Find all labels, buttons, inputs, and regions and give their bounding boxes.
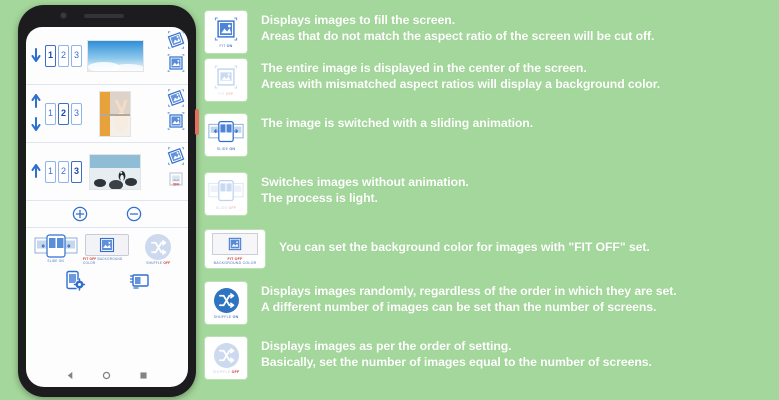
sky-clouds-thumbnail	[88, 41, 144, 72]
legend-line-1: Displays images to fill the screen.	[261, 13, 654, 29]
row-thumbnail[interactable]	[99, 91, 131, 137]
screen-number-3[interactable]: 3	[71, 103, 82, 125]
screen-number-3[interactable]: 3	[71, 161, 82, 183]
shuffle-mode-caption: SHUFFLE OFF	[146, 261, 170, 265]
move-down-icon[interactable]	[31, 117, 41, 133]
move-down-icon[interactable]	[31, 48, 41, 64]
phone-mockup: 1 2 3	[18, 5, 196, 397]
legend-line-2: Areas with mismatched aspect ratios will…	[261, 77, 660, 93]
legend-text: Displays images as per the order of sett…	[261, 337, 652, 370]
penguins-ice-thumbnail	[90, 155, 141, 190]
rotate-image-icon[interactable]	[166, 88, 186, 108]
legend-line-1: Displays images as per the order of sett…	[261, 339, 652, 355]
mode-toolbar: SLIDE ON FIT OFF BACKGROUND COLOR	[26, 228, 188, 265]
home-nav-icon[interactable]	[102, 371, 111, 380]
svg-text:OFF: OFF	[173, 183, 180, 187]
screen-number-selector[interactable]: 1 2 3	[45, 103, 82, 125]
background-color-swatch[interactable]	[85, 234, 129, 256]
shuffle-glyph-icon	[150, 239, 167, 256]
slide-on-icon	[34, 234, 78, 258]
front-camera-icon	[60, 12, 67, 19]
row-thumbnail[interactable]	[89, 154, 141, 190]
fit-on-icon: FIT ON	[205, 11, 247, 53]
fit-off-caption: FIT OFF	[219, 92, 234, 96]
fit-off-image-icon[interactable]: OFF	[166, 169, 186, 189]
background-color-icon: FIT OFF BACKGROUND COLOR	[205, 230, 265, 268]
list-item: SLIDE ON The image is switched with a sl…	[205, 114, 779, 156]
row-icon-column	[166, 88, 186, 131]
power-button[interactable]	[195, 109, 199, 135]
table-row[interactable]: 1 2 3	[26, 143, 188, 201]
row-arrow-column	[28, 48, 44, 64]
slide-off-glyph-icon	[208, 178, 244, 204]
background-color-caption: FIT OFF BACKGROUND COLOR	[83, 257, 131, 265]
legend-line-2: A different number of images can be set …	[261, 300, 677, 316]
list-item: SLIDE OFF Switches images without animat…	[205, 173, 779, 215]
remove-screen-button[interactable]	[126, 206, 142, 222]
recents-nav-icon[interactable]	[139, 371, 148, 380]
rotate-image-icon[interactable]	[166, 146, 186, 166]
phone-screen: 1 2 3	[26, 27, 188, 387]
fit-on-glyph-icon	[213, 16, 239, 42]
slide-mode-button[interactable]: SLIDE ON	[32, 234, 80, 263]
screen-settings-button[interactable]	[64, 270, 86, 292]
legend-line-1: The image is switched with a sliding ani…	[261, 116, 533, 132]
move-up-icon[interactable]	[31, 164, 41, 180]
screen-count-stepper[interactable]	[26, 201, 188, 228]
shuffle-glyph-icon	[218, 347, 235, 364]
slide-on-caption: SLIDE ON	[217, 147, 235, 151]
tool-toolbar	[26, 265, 188, 292]
background-color-icon	[99, 237, 115, 253]
legend-line-2: Areas that do not match the aspect ratio…	[261, 29, 654, 45]
legend-text: Switches images without animation. The p…	[261, 173, 469, 206]
legend-line-1: Displays images randomly, regardless of …	[261, 284, 677, 300]
row-icon-column: OFF	[166, 146, 186, 189]
slide-mode-caption: SLIDE ON	[47, 259, 64, 263]
move-up-icon[interactable]	[31, 94, 41, 110]
list-item: FIT ON Displays images to fill the scree…	[205, 11, 779, 53]
legend-line-2: The process is light.	[261, 191, 469, 207]
shuffle-on-caption: SHUFFLE ON	[214, 315, 239, 319]
background-color-swatch	[212, 233, 258, 255]
screen-number-selector[interactable]: 1 2 3	[45, 161, 82, 183]
slide-on-icon: SLIDE ON	[205, 114, 247, 156]
row-icon-column	[166, 30, 186, 73]
shuffle-glyph-icon	[218, 292, 235, 309]
widget-settings-button[interactable]	[128, 270, 150, 292]
legend-panel: FIT ON Displays images to fill the scree…	[205, 0, 779, 400]
screen-number-1[interactable]: 1	[45, 161, 56, 183]
row-arrow-column	[28, 164, 44, 180]
shuffle-on-icon: SHUFFLE ON	[205, 282, 247, 324]
shuffle-off-icon[interactable]	[145, 234, 171, 260]
screen-number-3[interactable]: 3	[71, 45, 82, 67]
background-color-caption: FIT OFF BACKGROUND COLOR	[214, 257, 257, 266]
list-item: SHUFFLE OFF Displays images as per the o…	[205, 337, 779, 379]
fit-image-icon[interactable]	[166, 111, 186, 131]
rotate-image-icon[interactable]	[166, 30, 186, 50]
slide-off-caption: SLIDE OFF	[216, 206, 236, 210]
legend-line-1: You can set the background color for ima…	[279, 240, 650, 256]
screen-number-selector[interactable]: 1 2 3	[45, 45, 82, 67]
fit-off-icon: FIT OFF	[205, 59, 247, 101]
earpiece-speaker	[84, 14, 124, 18]
screen-number-1[interactable]: 1	[45, 45, 56, 67]
shuffle-off-caption: SHUFFLE OFF	[213, 370, 240, 374]
fit-off-glyph-icon	[213, 64, 239, 90]
back-nav-icon[interactable]	[66, 371, 75, 380]
yoga-stretch-thumbnail	[100, 92, 131, 137]
legend-line-1: The entire image is displayed in the cen…	[261, 61, 660, 77]
background-color-button[interactable]: FIT OFF BACKGROUND COLOR	[83, 234, 131, 265]
fit-on-caption: FIT ON	[220, 44, 233, 48]
android-nav-bar	[26, 365, 188, 385]
phone-top-bezel	[18, 5, 196, 27]
image-glyph-icon	[228, 237, 242, 251]
slide-off-icon: SLIDE OFF	[205, 173, 247, 215]
shuffle-on-circle	[214, 288, 239, 313]
legend-text: Displays images randomly, regardless of …	[261, 282, 677, 315]
add-screen-button[interactable]	[72, 206, 88, 222]
shuffle-off-icon: SHUFFLE OFF	[205, 337, 247, 379]
table-row[interactable]: 1 2 3	[26, 27, 188, 85]
screen-number-2[interactable]: 2	[58, 103, 69, 125]
legend-text: The image is switched with a sliding ani…	[261, 114, 533, 132]
legend-text: You can set the background color for ima…	[279, 230, 650, 256]
screen-number-2[interactable]: 2	[58, 45, 69, 67]
legend-text: The entire image is displayed in the cen…	[261, 59, 660, 92]
fit-image-icon[interactable]	[166, 53, 186, 73]
list-item: FIT OFF The entire image is displayed in…	[205, 59, 779, 101]
slide-on-glyph-icon	[208, 119, 244, 145]
list-item: SHUFFLE ON Displays images randomly, reg…	[205, 282, 779, 324]
shuffle-off-circle	[214, 343, 239, 368]
screen-number-1[interactable]: 1	[45, 103, 56, 125]
row-arrow-column	[28, 94, 44, 133]
legend-text: Displays images to fill the screen. Area…	[261, 11, 654, 44]
table-row[interactable]: 1 2 3	[26, 85, 188, 143]
screen-number-2[interactable]: 2	[58, 161, 69, 183]
legend-line-1: Switches images without animation.	[261, 175, 469, 191]
row-thumbnail[interactable]	[87, 40, 144, 72]
list-item: FIT OFF BACKGROUND COLOR You can set the…	[205, 230, 779, 268]
shuffle-mode-button[interactable]: SHUFFLE OFF	[134, 234, 182, 265]
legend-line-2: Basically, set the number of images equa…	[261, 355, 652, 371]
